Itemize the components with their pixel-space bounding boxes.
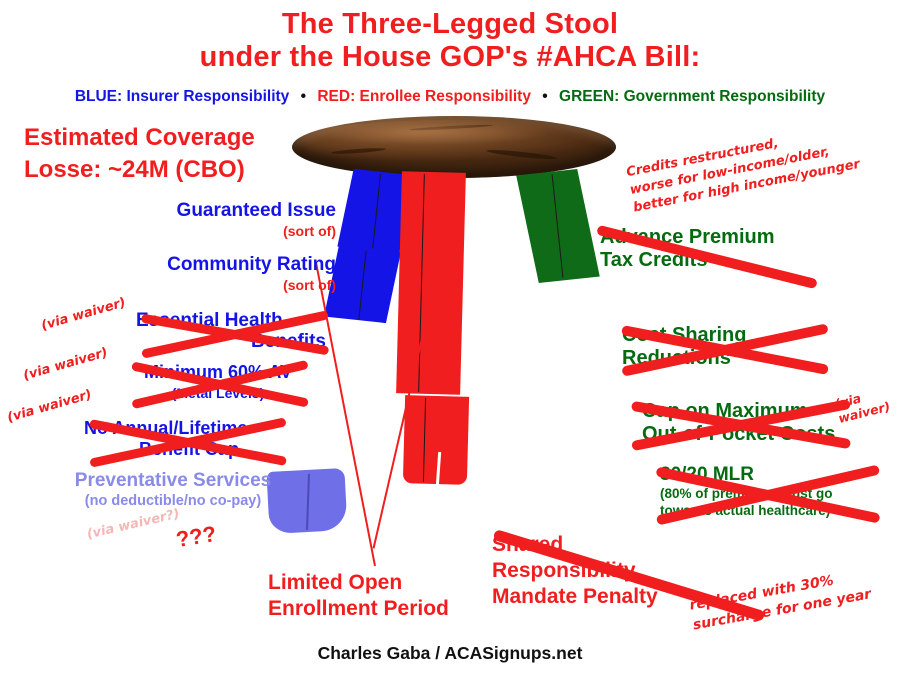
coverage-loss-estimate: Estimated Coverage Losse: ~24M (CBO) (24, 122, 324, 186)
question-marks: ??? (174, 521, 218, 553)
annotation-tax-credits: Credits restructured, worse for low-inco… (625, 121, 862, 218)
open-enrollment-text: Limited Open (268, 571, 402, 594)
enrollee-leg-segment-1 (396, 171, 466, 395)
guaranteed-issue-text: Guaranteed Issue (177, 200, 336, 221)
label-community-rating: Community Rating (sort of) (146, 254, 336, 296)
community-rating-note: (sort of) (146, 275, 336, 296)
legend-separator-2: • (535, 88, 554, 105)
preventative-services-text: Preventative Services (75, 470, 271, 491)
label-guaranteed-issue: Guaranteed Issue (sort of) (166, 200, 336, 242)
legend-green: GREEN: Government Responsibility (559, 88, 825, 105)
infographic-canvas: The Three-Legged Stool under the House G… (0, 0, 900, 700)
annotation-waiver-oop: (via waiver) (833, 384, 891, 426)
estimate-line-2: Losse: ~24M (CBO) (24, 154, 324, 186)
community-rating-text: Community Rating (167, 254, 336, 275)
annotation-waiver-1: (via waiver) (39, 294, 127, 334)
author-credit: Charles Gaba / ACASignups.net (0, 643, 900, 664)
open-enrollment-text-2: Enrollment Period (268, 596, 508, 622)
annotation-waiver-3: (via waiver) (5, 386, 93, 426)
legend-blue: BLUE: Insurer Responsibility (75, 88, 289, 105)
annotation-waiver-2: (via waiver) (21, 344, 109, 384)
stool-seat (292, 116, 616, 178)
estimate-line-1: Estimated Coverage (24, 122, 324, 154)
color-legend: BLUE: Insurer Responsibility • RED: Enro… (0, 88, 900, 106)
page-title: The Three-Legged Stool under the House G… (0, 8, 900, 74)
guaranteed-issue-note: (sort of) (166, 221, 336, 242)
title-line-1: The Three-Legged Stool (282, 8, 618, 40)
legend-separator-1: • (294, 88, 313, 105)
title-line-2: under the House GOP's #AHCA Bill: (0, 41, 900, 74)
legend-red: RED: Enrollee Responsibility (317, 88, 531, 105)
label-limited-open-enrollment: Limited Open Enrollment Period (268, 570, 508, 622)
